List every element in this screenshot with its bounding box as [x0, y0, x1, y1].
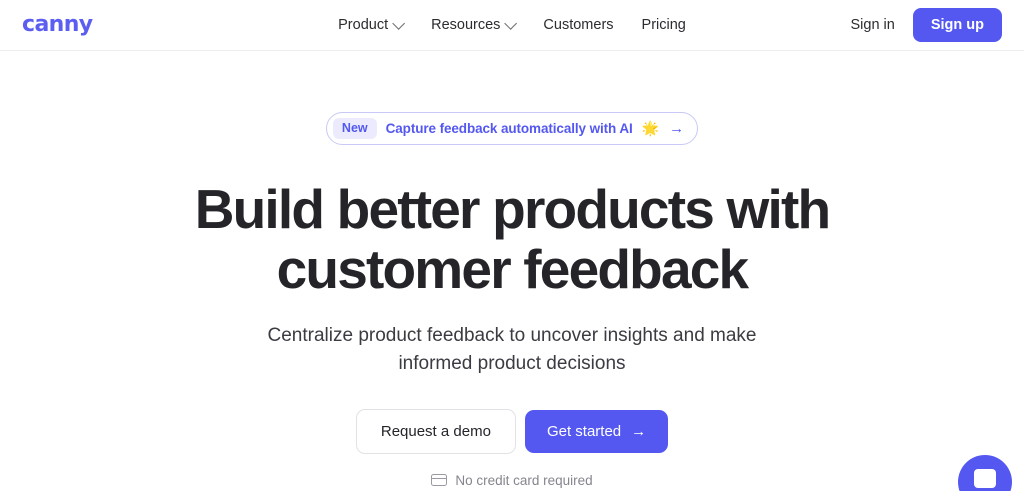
arrow-right-icon: → [669, 121, 684, 136]
headline-line-1: Build better products with [195, 178, 830, 240]
announcement-banner[interactable]: New Capture feedback automatically with … [326, 112, 698, 145]
sign-in-link[interactable]: Sign in [850, 17, 894, 33]
cta-button-group: Request a demo Get started → [356, 409, 668, 454]
nav-item-customers[interactable]: Customers [543, 17, 613, 33]
page-title: Build better products with customer feed… [195, 179, 830, 300]
chevron-down-icon [505, 17, 518, 30]
arrow-right-icon: → [631, 424, 646, 439]
canny-logo[interactable]: canny [22, 14, 93, 36]
sign-up-button[interactable]: Sign up [913, 8, 1002, 42]
nav-item-label: Product [338, 17, 388, 33]
nav-item-pricing[interactable]: Pricing [642, 17, 686, 33]
get-started-button[interactable]: Get started → [525, 410, 668, 453]
sparkles-icon: 🌟 [642, 121, 659, 135]
nav-item-resources[interactable]: Resources [431, 17, 515, 33]
hero-section: New Capture feedback automatically with … [0, 51, 1024, 488]
announcement-text: Capture feedback automatically with AI [386, 121, 633, 136]
nav-item-label: Resources [431, 17, 500, 33]
nav-item-label: Pricing [642, 17, 686, 33]
main-navigation: Product Resources Customers Pricing [338, 17, 686, 33]
header-actions: Sign in Sign up [850, 8, 1002, 42]
headline-line-2: customer feedback [277, 238, 748, 300]
site-header: canny Product Resources Customers Pricin… [0, 0, 1024, 51]
new-badge: New [333, 118, 377, 139]
hero-subheadline: Centralize product feedback to uncover i… [242, 322, 782, 378]
no-credit-card-note: No credit card required [431, 473, 592, 488]
no-credit-card-label: No credit card required [455, 473, 592, 488]
request-demo-button[interactable]: Request a demo [356, 409, 516, 454]
nav-item-label: Customers [543, 17, 613, 33]
chevron-down-icon [392, 17, 405, 30]
chat-bubble-icon [974, 469, 996, 488]
credit-card-icon [431, 474, 447, 486]
get-started-label: Get started [547, 423, 621, 440]
nav-item-product[interactable]: Product [338, 17, 403, 33]
